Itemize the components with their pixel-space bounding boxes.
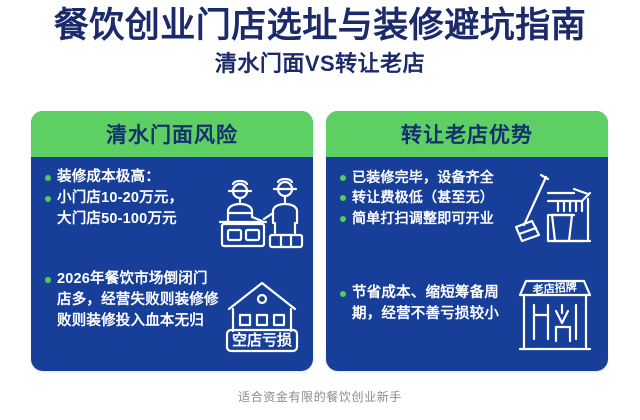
panel-header-left: 清水门面风险 <box>31 111 313 157</box>
page-title: 餐饮创业门店选址与装修避坑指南 <box>0 6 640 45</box>
broom-cleaning-icon <box>510 171 602 251</box>
list-item-label: 已装修完毕，设备齐全 <box>352 167 494 187</box>
list-item: 店多，经营失败则装修修 <box>45 290 241 311</box>
risk-block-cost-lines: 装修成本极高： 小门店10-20万元， 大门店50-100万元 <box>45 167 227 230</box>
panel-body-left: 装修成本极高： 小门店10-20万元， 大门店50-100万元 <box>31 157 313 371</box>
empty-shop-loss-icon-label: 空店亏损 <box>232 331 292 349</box>
list-item: 已装修完毕，设备齐全 <box>340 167 536 187</box>
list-item: 节省成本、缩短筹备周 <box>340 283 536 304</box>
list-item: 转让费极低（甚至无） <box>340 187 536 207</box>
list-item: 期，经营不善亏损较小 <box>340 304 536 325</box>
advantage-block-savings-lines: 节省成本、缩短筹备周 期，经营不善亏损较小 <box>340 283 536 325</box>
bullet-dot-icon <box>45 196 51 202</box>
risk-block-closure-lines: 2026年餐饮市场倒闭门 店多，经营失败则装修修 败则装修投入血本无归 <box>45 269 241 332</box>
list-item-label: 小门店10-20万元， <box>57 188 183 209</box>
empty-shop-loss-icon: 空店亏损 <box>219 273 305 355</box>
poster-root: 餐饮创业门店选址与装修避坑指南 清水门面VS转让老店 清水门面风险 装修成本极高… <box>0 0 640 420</box>
footer-note: 适合资金有限的餐饮创业新手 <box>0 388 640 405</box>
bullet-dot-icon <box>340 175 346 181</box>
list-item-label: 败则装修投入血本无归 <box>57 311 204 332</box>
list-item-label: 大门店50-100万元 <box>57 209 177 230</box>
construction-workers-icon <box>215 173 307 257</box>
panel-transfer-advantage: 转让老店优势 已装修完毕，设备齐全 转让费极低（甚至无） <box>326 111 608 371</box>
bullet-dot-icon <box>45 175 51 181</box>
list-item: 小门店10-20万元， <box>45 188 227 209</box>
bullet-dot-icon <box>340 195 346 201</box>
bullet-dot-icon <box>340 216 346 222</box>
list-item: 简单打扫调整即可开业 <box>340 208 536 228</box>
list-item-label: 店多，经营失败则装修修 <box>57 290 219 311</box>
panel-header-right: 转让老店优势 <box>326 111 608 157</box>
title-block: 餐饮创业门店选址与装修避坑指南 清水门面VS转让老店 <box>0 6 640 76</box>
page-subtitle: 清水门面VS转让老店 <box>0 51 640 76</box>
panel-body-right: 已装修完毕，设备齐全 转让费极低（甚至无） 简单打扫调整即可开业 <box>326 157 608 371</box>
list-item-label: 节省成本、缩短筹备周 <box>352 283 499 304</box>
list-item-label: 简单打扫调整即可开业 <box>352 208 494 228</box>
list-item-label: 转让费极低（甚至无） <box>352 187 494 207</box>
panel-qingshui-risk: 清水门面风险 装修成本极高： 小门店10-20万元， <box>31 111 313 371</box>
list-item-label: 装修成本极高： <box>57 167 160 188</box>
advantage-block-savings: 节省成本、缩短筹备周 期，经营不善亏损较小 老店招牌 <box>326 269 608 369</box>
panel-header-right-label: 转让老店优势 <box>401 119 533 149</box>
list-item: 装修成本极高： <box>45 167 227 188</box>
comparison-panels: 清水门面风险 装修成本极高： 小门店10-20万元， <box>31 111 609 371</box>
bullet-dot-icon <box>340 291 346 297</box>
advantage-block-ready: 已装修完毕，设备齐全 转让费极低（甚至无） 简单打扫调整即可开业 <box>326 167 608 267</box>
panel-header-left-label: 清水门面风险 <box>106 119 238 149</box>
list-item: 大门店50-100万元 <box>45 209 227 230</box>
risk-block-closure: 2026年餐饮市场倒闭门 店多，经营失败则装修修 败则装修投入血本无归 <box>31 269 313 369</box>
list-item-label: 期，经营不善亏损较小 <box>352 304 499 325</box>
bullet-dot-icon <box>45 277 51 283</box>
risk-block-cost: 装修成本极高： 小门店10-20万元， 大门店50-100万元 <box>31 167 313 267</box>
list-item-label: 2026年餐饮市场倒闭门 <box>57 269 208 290</box>
list-item: 2026年餐饮市场倒闭门 <box>45 269 241 290</box>
list-item: 败则装修投入血本无归 <box>45 311 241 332</box>
old-shop-signboard-icon: 老店招牌 <box>510 271 600 357</box>
advantage-block-ready-lines: 已装修完毕，设备齐全 转让费极低（甚至无） 简单打扫调整即可开业 <box>340 167 536 228</box>
